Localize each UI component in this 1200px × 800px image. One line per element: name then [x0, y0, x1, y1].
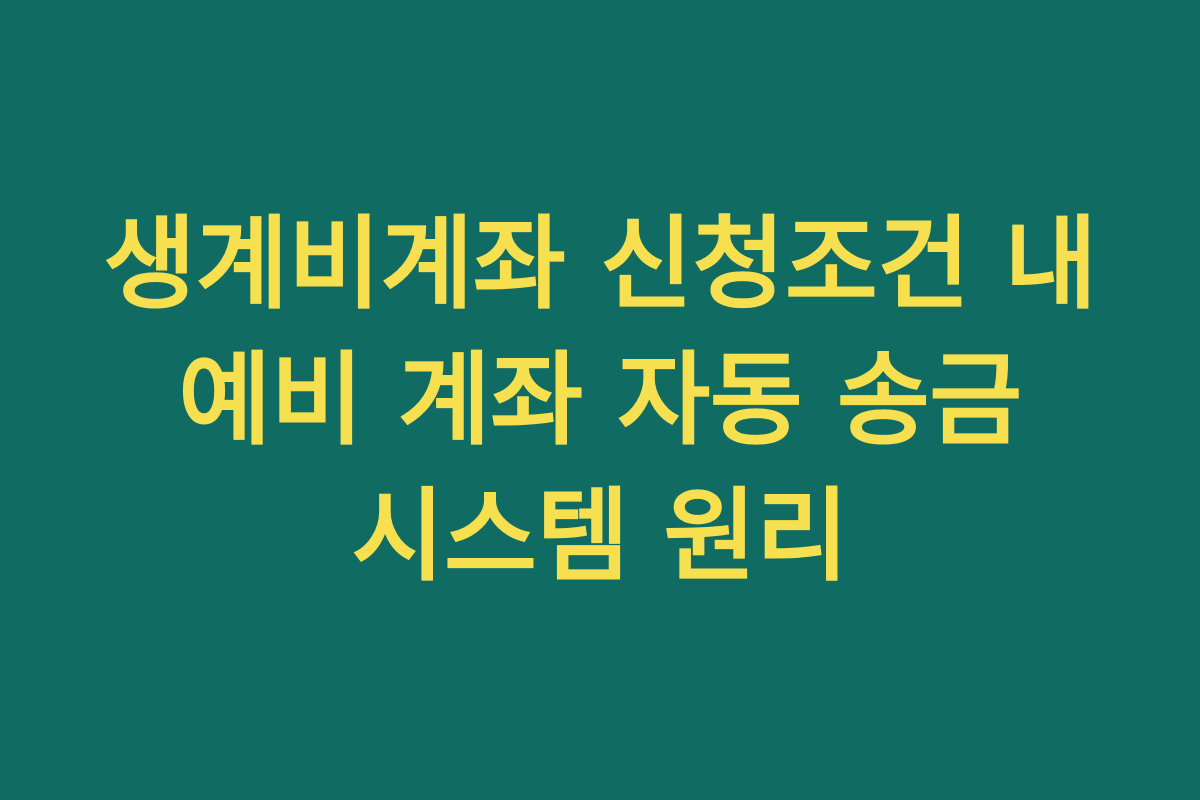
- banner-canvas: 생계비계좌 신청조건 내 예비 계좌 자동 송금 시스템 원리: [0, 0, 1200, 800]
- banner-headline: 생계비계좌 신청조건 내 예비 계좌 자동 송금 시스템 원리: [0, 196, 1200, 604]
